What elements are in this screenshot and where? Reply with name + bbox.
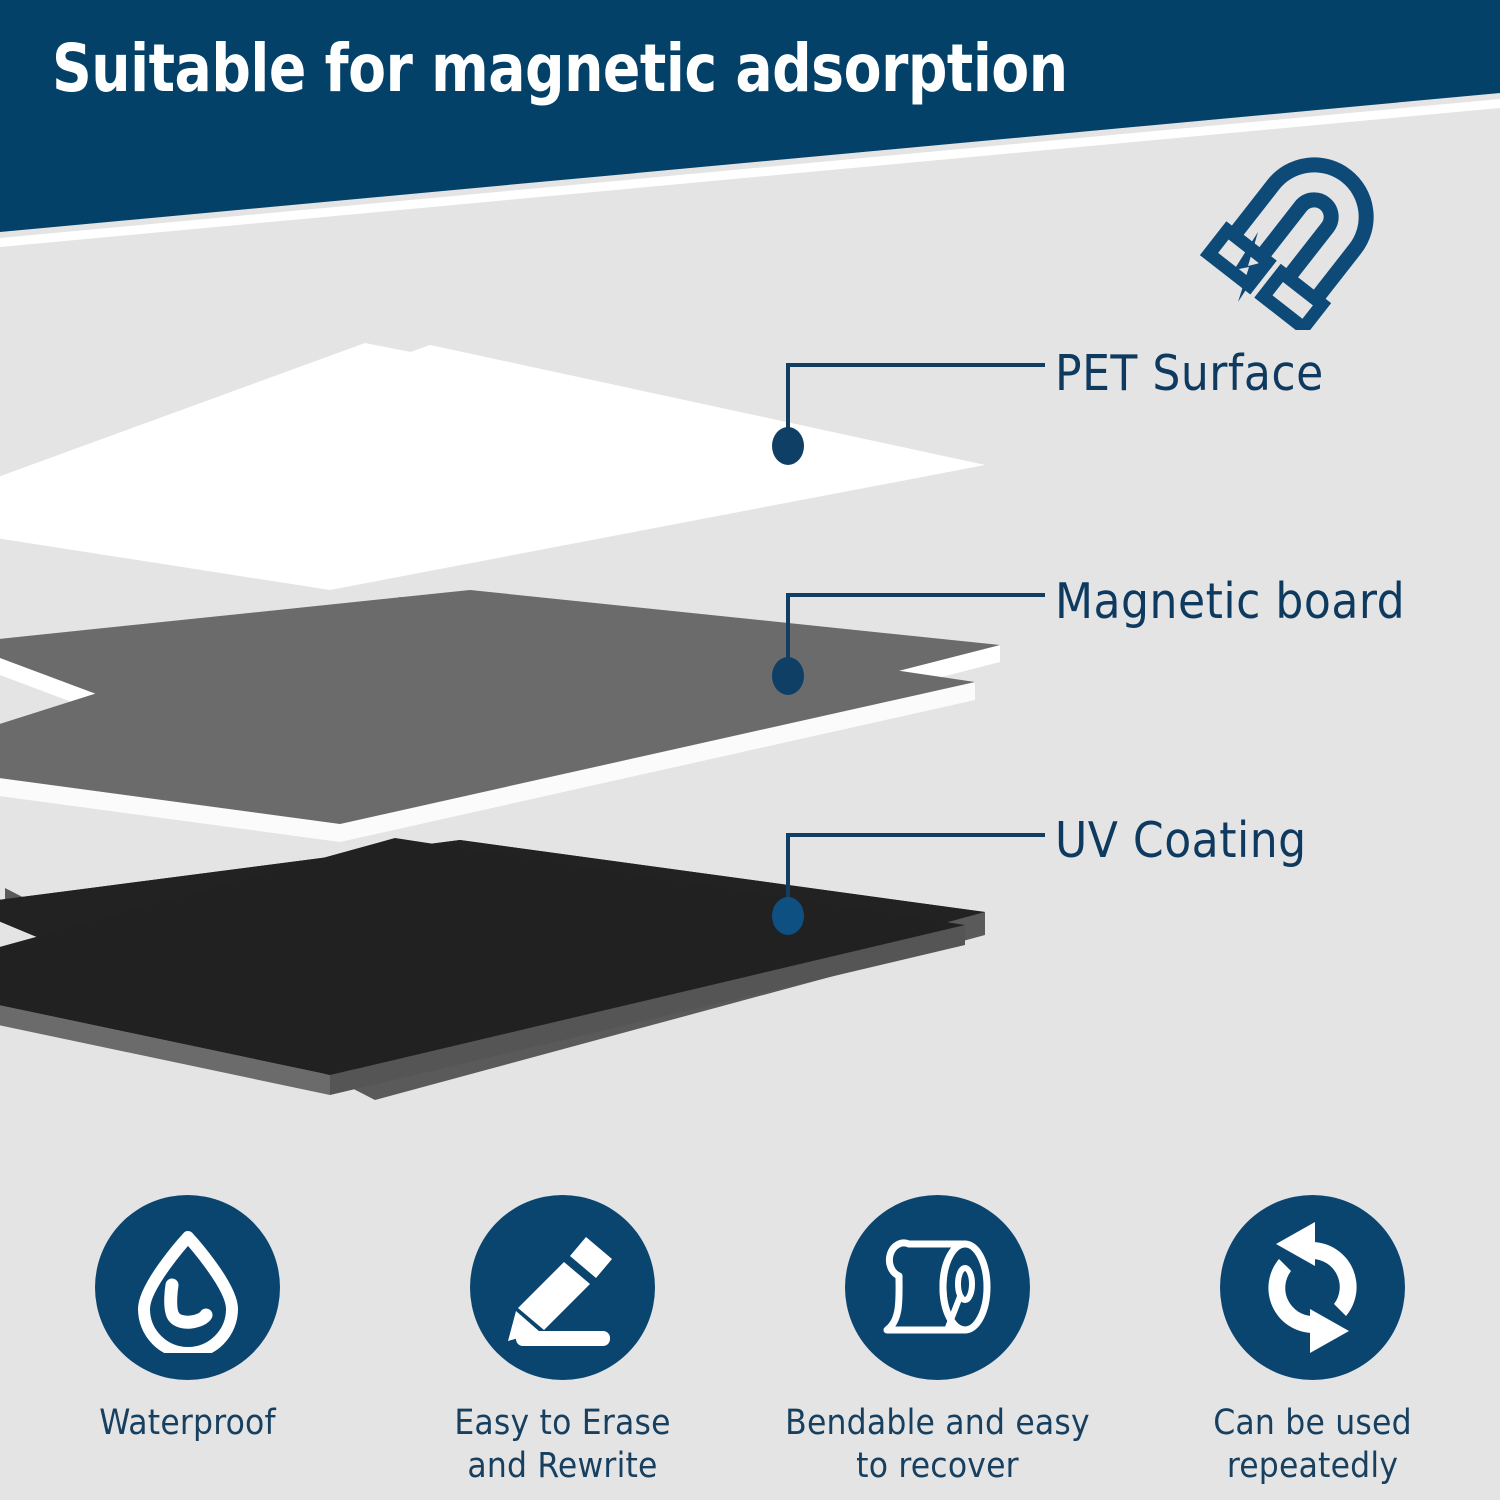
magnet-icon — [1200, 140, 1400, 330]
infographic-page: Suitable for magnetic adsorption — [0, 0, 1500, 1500]
leader-line-magnetic-board — [770, 590, 1050, 700]
feature-waterproof: Waterproof — [0, 1195, 375, 1495]
feature-bendable: Bendable and easy to recover — [750, 1195, 1125, 1495]
leader-line-pet-surface — [770, 360, 1050, 470]
leader-line-uv-coating — [770, 830, 1050, 940]
water-drop-icon — [128, 1223, 248, 1353]
feature-label-bendable: Bendable and easy to recover — [785, 1402, 1090, 1487]
pencil-icon — [500, 1225, 625, 1350]
feature-reusable: Can be used repeatedly — [1125, 1195, 1500, 1495]
feature-icon-circle — [95, 1195, 280, 1380]
paper-roll-icon — [873, 1228, 1003, 1348]
label-magnetic-board: Magnetic board — [1055, 573, 1405, 630]
feature-easy-to-erase: Easy to Erase and Rewrite — [375, 1195, 750, 1495]
feature-icon-circle — [845, 1195, 1030, 1380]
label-uv-coating: UV Coating — [1055, 812, 1307, 869]
recycle-arrows-icon — [1245, 1220, 1380, 1355]
feature-row: Waterproof Easy to Erase and Rewrite — [0, 1195, 1500, 1495]
feature-label-easy-to-erase: Easy to Erase and Rewrite — [454, 1402, 670, 1487]
feature-icon-circle — [470, 1195, 655, 1380]
page-title: Suitable for magnetic adsorption — [52, 30, 1068, 107]
feature-label-waterproof: Waterproof — [99, 1402, 276, 1445]
feature-icon-circle — [1220, 1195, 1405, 1380]
feature-label-reusable: Can be used repeatedly — [1213, 1402, 1412, 1487]
label-pet-surface: PET Surface — [1055, 345, 1324, 402]
